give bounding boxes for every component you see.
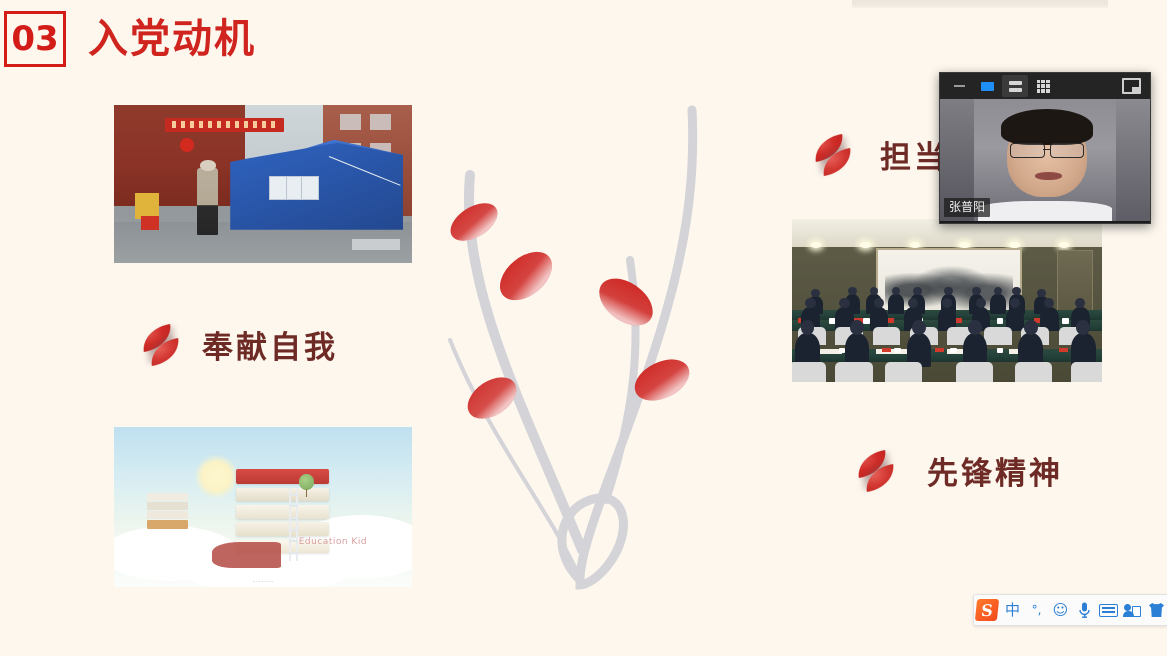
tree-icon: [299, 474, 314, 489]
sogou-ime-toolbar[interactable]: S 中 °, ☺: [973, 594, 1167, 626]
section-number-box: 03: [4, 11, 66, 67]
account-icon[interactable]: [1123, 599, 1142, 621]
microphone-icon[interactable]: [1075, 599, 1094, 621]
webcam-toolbar: [940, 73, 1150, 99]
petal-stems-decoration: [430, 80, 730, 600]
photo-tent-checkpoint: [114, 105, 412, 263]
label-danzedang: 担当: [812, 132, 948, 177]
label-fengxian-text: 奉献自我: [202, 322, 338, 367]
keyboard-icon[interactable]: [1099, 599, 1118, 621]
label-fengxian: 奉献自我: [140, 322, 338, 367]
emoji-icon[interactable]: ☺: [1051, 599, 1070, 621]
ladder-icon: [289, 488, 298, 561]
page-title: 03 入党动机: [0, 8, 256, 70]
photo-credit-text: ·············: [129, 579, 397, 584]
red-petal-icon: [812, 134, 856, 176]
red-petal-icon: [140, 324, 184, 366]
photo-conference-meeting: [792, 219, 1102, 382]
label-xianfeng: 先锋精神: [855, 448, 1063, 493]
small-book-stack: [147, 493, 189, 531]
label-danzedang-text: 担当: [880, 132, 948, 177]
punctuation-mode-icon[interactable]: °,: [1027, 599, 1046, 621]
photo-education-books: Education Kid ·············: [114, 427, 412, 587]
label-xianfeng-text: 先锋精神: [927, 448, 1063, 493]
webcam-overlay-window[interactable]: 张普阳: [939, 72, 1151, 224]
participant-name-label: 张普阳: [944, 198, 990, 217]
grid-layout-icon[interactable]: [1030, 75, 1056, 97]
skin-icon[interactable]: [1147, 599, 1166, 621]
photo-watermark: Education Kid: [299, 537, 367, 547]
picture-in-picture-icon[interactable]: [1118, 75, 1144, 97]
chinese-mode-icon[interactable]: 中: [1003, 599, 1022, 621]
minimize-icon[interactable]: [946, 75, 972, 97]
presentation-screen: 03 入党动机: [0, 0, 1167, 656]
blue-square-icon[interactable]: [974, 75, 1000, 97]
red-petal-icon: [855, 450, 899, 492]
sogou-logo-icon[interactable]: S: [975, 599, 999, 621]
section-title-text: 入党动机: [88, 19, 256, 59]
webcam-video-feed[interactable]: 张普阳: [940, 99, 1150, 221]
collapsed-toolbar-strip[interactable]: [852, 0, 1108, 8]
toolbar-spacer: [1058, 75, 1116, 97]
split-layout-icon[interactable]: [1002, 75, 1028, 97]
